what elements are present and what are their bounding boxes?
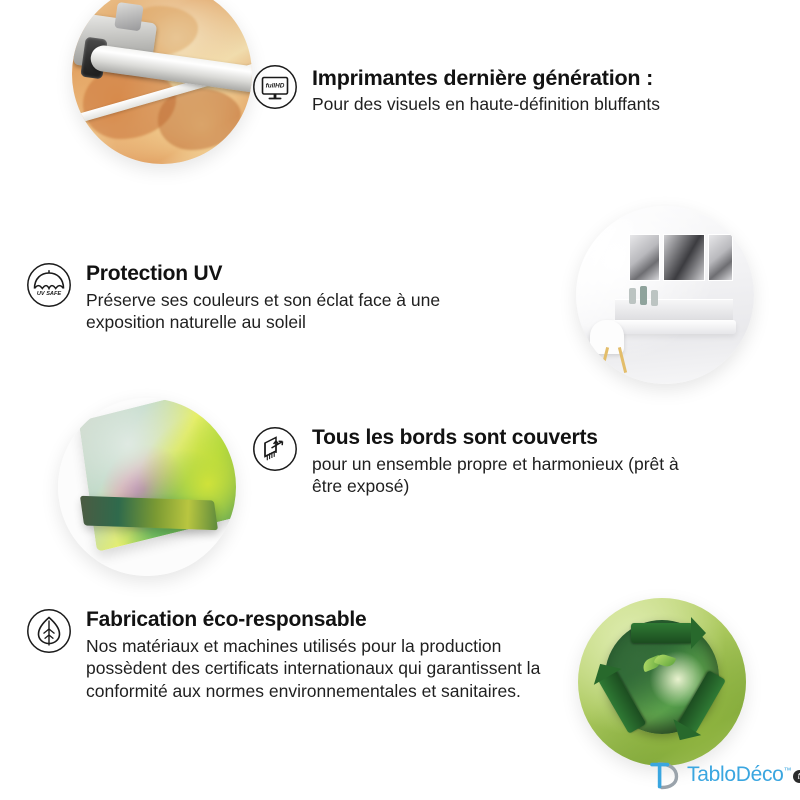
- infographic-canvas: fullHD Imprimantes dernière génération :…: [0, 0, 800, 800]
- feature-title: Protection UV: [86, 262, 506, 286]
- feature-body: Préserve ses couleurs et son éclat face …: [86, 289, 506, 335]
- trademark-symbol: ™: [784, 766, 792, 775]
- fullhd-monitor-icon: fullHD: [252, 64, 298, 110]
- brand-logo[interactable]: TabloDéco™fr: [648, 756, 794, 794]
- feature-title: Tous les bords sont couverts: [312, 426, 692, 450]
- brand-monogram-icon: [648, 758, 682, 792]
- feature-block-uv-protection: UV SAFE Protection UV Préserve ses coule…: [26, 262, 506, 334]
- feature-title: Fabrication éco-responsable: [86, 608, 586, 632]
- feature-block-wrapped-edges: Tous les bords sont couverts pour un ens…: [252, 426, 692, 498]
- country-badge: fr: [793, 770, 800, 783]
- leaf-icon: [26, 608, 72, 654]
- wrapped-edges-icon: [252, 426, 298, 472]
- photo-green-globe-with-recycling-arrows: [578, 598, 746, 766]
- photo-colorful-canvas-wrapped-corner: [58, 398, 236, 576]
- feature-body: Nos matériaux et machines utilisés pour …: [86, 635, 586, 703]
- brand-name: TabloDéco™fr: [687, 763, 800, 787]
- svg-text:fullHD: fullHD: [266, 83, 285, 90]
- uv-safe-umbrella-icon: UV SAFE: [26, 262, 72, 308]
- feature-body: pour un ensemble propre et harmonieux (p…: [312, 453, 692, 499]
- feature-block-printers: fullHD Imprimantes dernière génération :…: [252, 64, 722, 116]
- photo-printer-head-on-world-map-print: [72, 0, 252, 164]
- feature-title: Imprimantes dernière génération :: [312, 66, 660, 90]
- svg-text:UV SAFE: UV SAFE: [37, 291, 62, 297]
- photo-white-dining-room-with-wall-art: [576, 206, 754, 384]
- brand-name-text: TabloDéco: [687, 763, 784, 786]
- feature-body: Pour des visuels en haute-définition blu…: [312, 93, 660, 116]
- feature-block-eco-manufacturing: Fabrication éco-responsable Nos matériau…: [26, 608, 586, 703]
